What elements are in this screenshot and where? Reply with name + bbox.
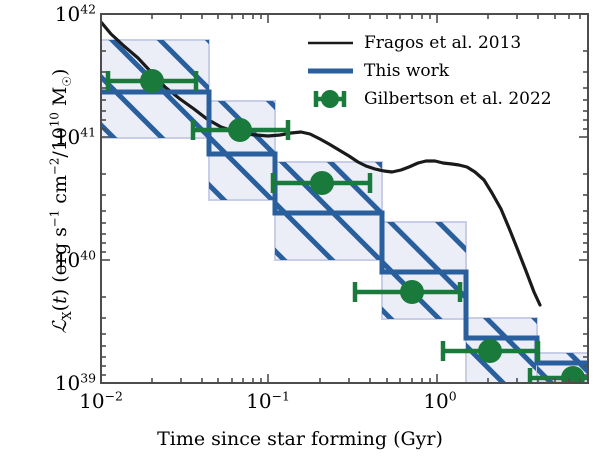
x-tick-label-1e-1: 10−1: [228, 389, 308, 413]
legend-label-fragos: Fragos et al. 2013: [364, 33, 521, 53]
y-axis-title: ℒX(t) (erg s−1 cm−2/1010 M☉): [49, 0, 71, 411]
x-tick-label-1e0: 100: [400, 389, 480, 413]
legend-swatch-gilbertson: [316, 90, 344, 108]
legend-label-this-work: This work: [364, 61, 449, 81]
x-tick-label-1e-2: 10−2: [61, 389, 141, 413]
legend-label-gilbertson: Gilbertson et al. 2022: [364, 89, 552, 109]
legend-glyphs: [308, 43, 353, 108]
figure-canvas: Fragos et al. 2013 This work Gilbertson …: [0, 0, 600, 459]
band-bin-2: [209, 101, 275, 200]
x-axis-title: Time since star forming (Gyr): [0, 428, 600, 450]
